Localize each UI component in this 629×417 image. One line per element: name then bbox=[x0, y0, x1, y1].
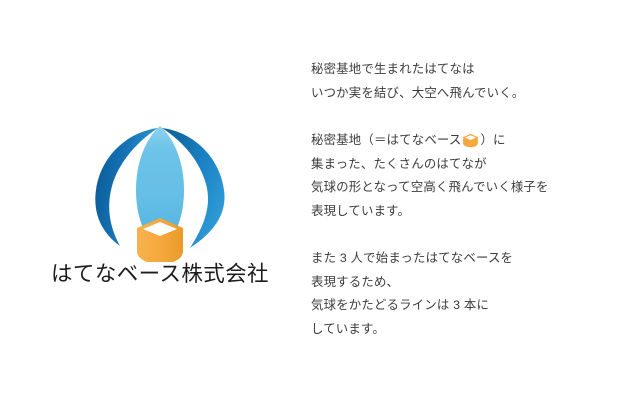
paragraph-3-line-3: 気球をかたどるラインは 3 本に bbox=[311, 294, 611, 318]
paragraph-1-line-2: いつか実を結び、大空へ飛んでいく。 bbox=[311, 82, 611, 106]
paragraph-3-line-2: 表現するため、 bbox=[311, 271, 611, 295]
paragraph-2: 秘密基地（＝はてなベース ）に 集まった、たくさんのはてなが 気球の形となって空… bbox=[311, 129, 611, 223]
paragraph-3-line-1: また 3 人で始まったはてなベースを bbox=[311, 247, 611, 271]
paragraph-2-line-1: 秘密基地（＝はてなベース ）に bbox=[311, 129, 611, 153]
paragraph-2-line-1-text-after: ）に bbox=[480, 133, 505, 147]
description-text-column: 秘密基地で生まれたはてなは いつか実を結び、大空へ飛んでいく。 秘密基地（＝はて… bbox=[311, 58, 611, 341]
paragraph-1: 秘密基地で生まれたはてなは いつか実を結び、大空へ飛んでいく。 bbox=[311, 58, 611, 105]
paragraph-2-line-2: 集まった、たくさんのはてなが bbox=[311, 153, 611, 177]
paragraph-2-line-3: 気球の形となって空高く飛んでいく様子を bbox=[311, 176, 611, 200]
paragraph-3: また 3 人で始まったはてなベースを 表現するため、 気球をかたどるラインは 3… bbox=[311, 247, 611, 341]
company-name: はてなベース株式会社 bbox=[40, 262, 280, 288]
paragraph-1-line-1: 秘密基地で生まれたはてなは bbox=[311, 58, 611, 82]
paragraph-2-line-1-text-before: 秘密基地（＝はてなベース bbox=[311, 133, 461, 147]
page-canvas: はてなベース株式会社 秘密基地で生まれたはてなは いつか実を結び、大空へ飛んでい… bbox=[0, 0, 629, 417]
hot-air-balloon-logo-icon bbox=[40, 112, 280, 262]
logo-block: はてなベース株式会社 bbox=[40, 112, 280, 288]
basket-icon bbox=[462, 133, 479, 148]
paragraph-3-line-4: しています。 bbox=[311, 318, 611, 342]
paragraph-2-line-4: 表現しています。 bbox=[311, 200, 611, 224]
